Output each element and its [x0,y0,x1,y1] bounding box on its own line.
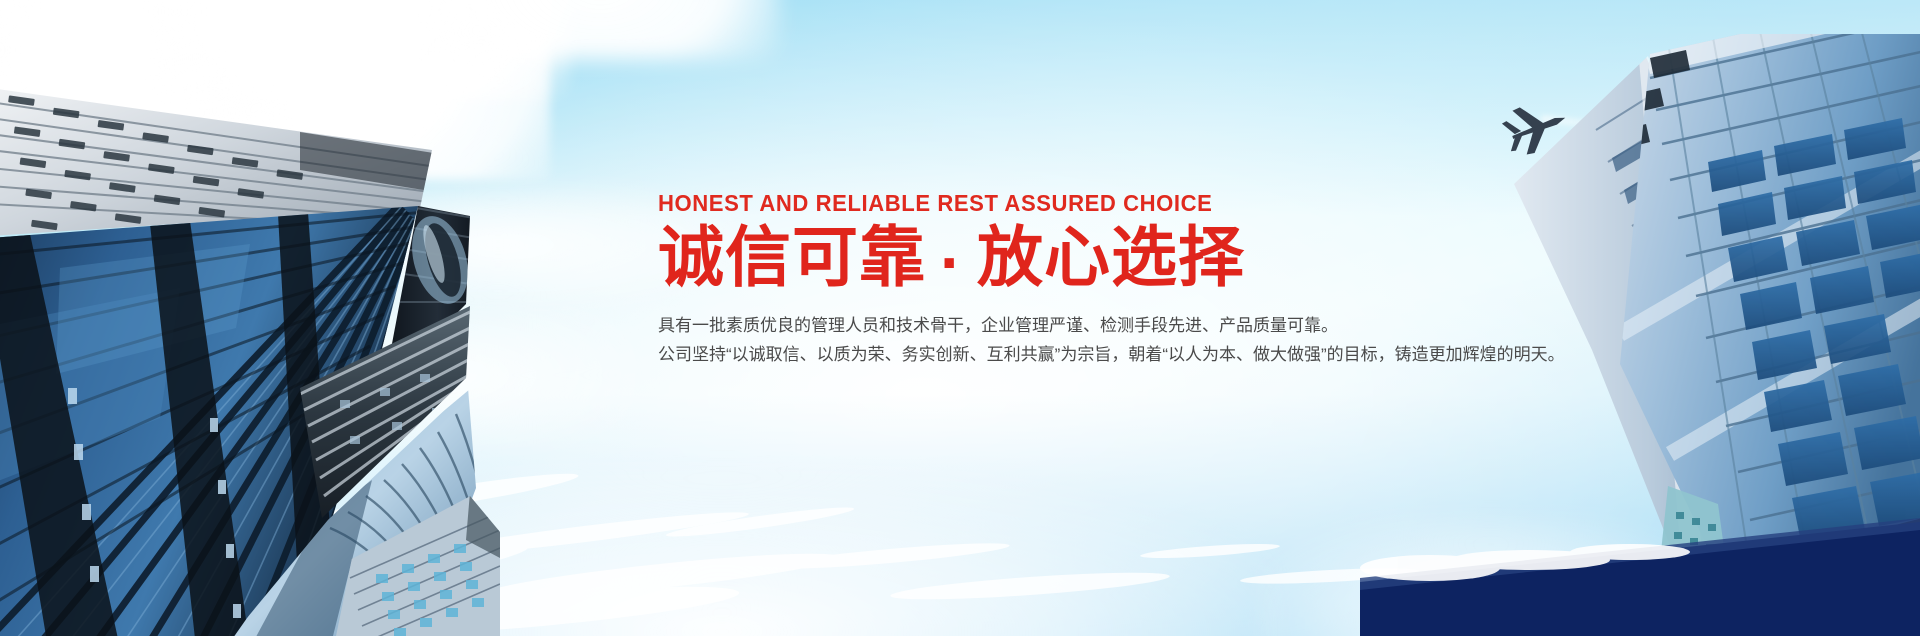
left-building [0,88,500,636]
navy-horizon-wedge [1360,516,1920,636]
headline-separator: · [940,228,963,297]
cloud-top-middle [420,0,780,60]
banner-description: 具有一批素质优良的管理人员和技术骨干，企业管理严谨、检测手段先进、产品质量可靠。… [658,311,1658,369]
headline-right-text: 放心选择 [977,220,1245,294]
headline-left-text: 诚信可靠 [658,220,926,294]
banner-copy: HONEST AND RELIABLE REST ASSURED CHOICE … [658,192,1658,369]
description-line-1: 具有一批素质优良的管理人员和技术骨干，企业管理严谨、检测手段先进、产品质量可靠。 [658,311,1658,340]
banner-eyebrow: HONEST AND RELIABLE REST ASSURED CHOICE [658,192,1618,215]
left-building-art [0,88,500,636]
navy-wedge-art [1360,516,1920,636]
description-line-2: 公司坚持“以诚取信、以质为荣、务实创新、互利共赢”为宗旨，朝着“以人为本、做大做… [658,340,1658,369]
banner-headline: 诚信可靠·放心选择 [658,223,1658,297]
hero-banner: HONEST AND RELIABLE REST ASSURED CHOICE … [0,0,1920,636]
